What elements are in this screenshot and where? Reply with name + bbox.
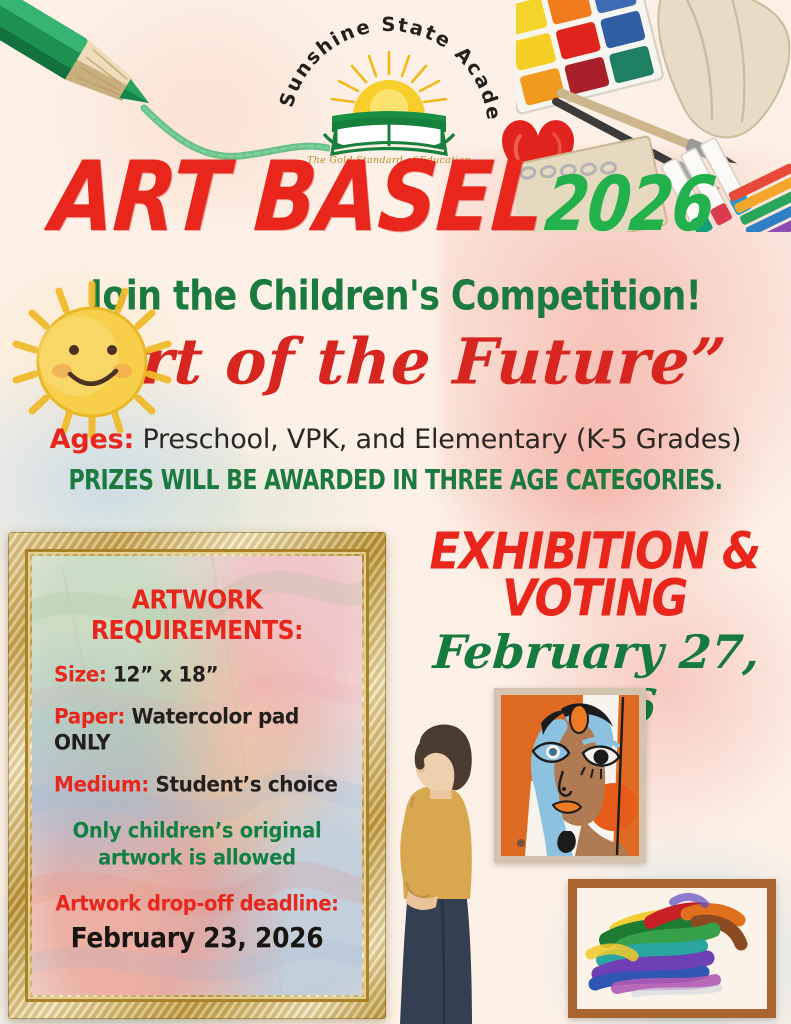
requirements-gold-frame: ARTWORK REQUIREMENTS: Size: 12” x 18” Pa… <box>8 532 386 1019</box>
prizes-note: PRIZES WILL BE AWARDED IN THREE AGE CATE… <box>16 465 775 496</box>
requirement-medium-value: Student’s choice <box>149 771 338 797</box>
artwork-abstract-paint-canvas <box>577 888 767 1009</box>
ages-line: Ages: Preschool, VPK, and Elementary (K-… <box>0 424 791 455</box>
smiling-sun-icon <box>4 278 180 443</box>
abstract-paint-strokes-graphic <box>577 888 767 1009</box>
exhibition-heading: EXHIBITION & VOTING <box>398 528 791 623</box>
artwork-cubist-portrait <box>494 688 646 863</box>
requirement-size-label: Size: <box>54 661 106 687</box>
deadline-label: Artwork drop-off deadline: <box>46 891 348 916</box>
requirements-canvas: ARTWORK REQUIREMENTS: Size: 12” x 18” Pa… <box>32 556 362 995</box>
title-year: 2026 <box>542 169 718 241</box>
requirement-medium-label: Medium: <box>54 771 149 797</box>
requirement-paper-label: Paper: <box>54 703 125 729</box>
artwork-abstract-paint <box>568 879 776 1018</box>
requirement-paper: Paper: Watercolor pad ONLY <box>54 703 348 755</box>
original-artwork-note-line2: artwork is allowed <box>46 845 348 872</box>
ages-value: Preschool, VPK, and Elementary (K-5 Grad… <box>134 424 741 455</box>
original-artwork-note-line1: Only children’s original <box>46 818 348 845</box>
original-artwork-note: Only children’s original artwork is allo… <box>46 818 348 872</box>
requirement-size: Size: 12” x 18” <box>54 661 348 687</box>
requirement-size-value: 12” x 18” <box>106 661 218 687</box>
exhibition-heading-line2: VOTING <box>398 575 791 622</box>
deadline-date: February 23, 2026 <box>46 921 348 953</box>
poster-title-row: ART BASEL 2026 <box>0 166 791 271</box>
requirements-heading: ARTWORK REQUIREMENTS: <box>46 584 348 646</box>
artwork-cubist-portrait-canvas <box>501 695 639 856</box>
requirement-medium: Medium: Student’s choice <box>54 771 348 797</box>
ages-label: Ages: <box>50 424 134 455</box>
cubist-portrait-graphic <box>501 695 639 856</box>
poster-root: Sunshine State Academy <box>0 0 791 1024</box>
title-art-basel: ART BASEL <box>48 152 546 244</box>
